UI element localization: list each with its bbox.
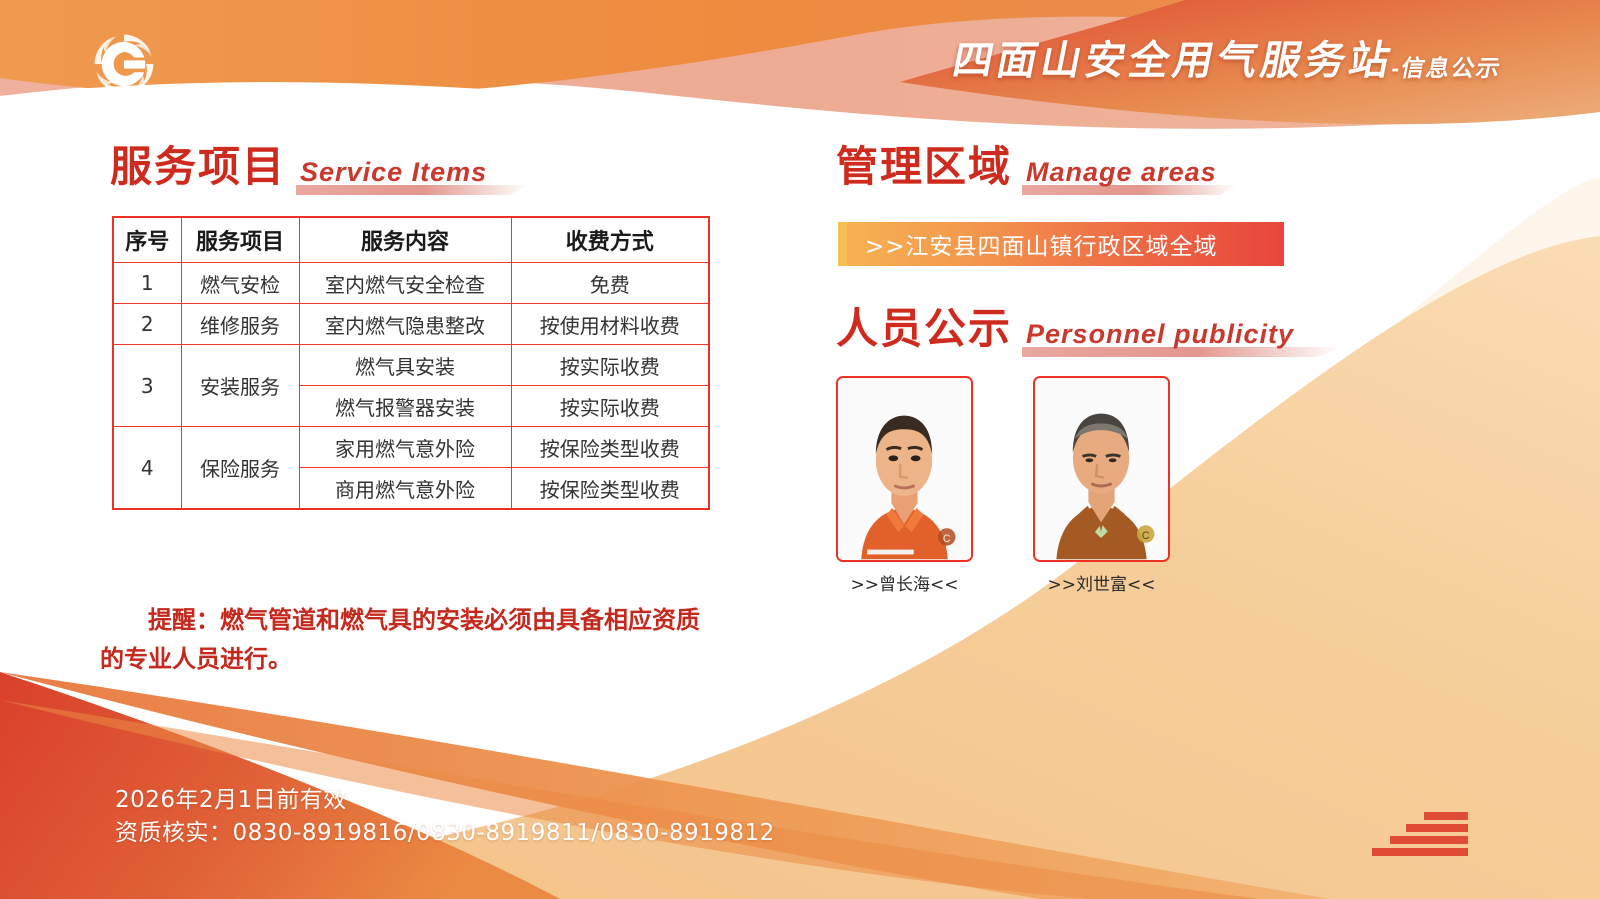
footer-info: 2026年2月1日前有效 资质核实：0830-8919816/0830-8919…	[115, 784, 775, 849]
badge-accent-bar	[838, 222, 847, 266]
cell-fee: 按保险类型收费	[511, 468, 709, 510]
personnel-name: >>刘世富<<	[1048, 570, 1156, 595]
table-row: 3 安装服务 燃气具安装 按实际收费	[113, 345, 709, 386]
svg-text:C: C	[943, 533, 951, 545]
avatar: C	[836, 376, 973, 562]
section-title-en: Manage areas	[1026, 159, 1217, 186]
cell-no: 4	[113, 427, 181, 510]
personnel-card: C >>曾长海<<	[836, 376, 973, 595]
cell-content: 室内燃气隐患整改	[299, 304, 511, 345]
person-photo-male-orange-uniform-icon: C	[838, 378, 971, 560]
stair-decoration	[1372, 812, 1468, 860]
manage-area-badge: >>江安县四面山镇行政区域全域	[838, 222, 1284, 266]
cell-content: 燃气具安装	[299, 345, 511, 386]
cell-no: 2	[113, 304, 181, 345]
section-title-en-wrap: Service Items	[300, 159, 487, 188]
avatar: C	[1033, 376, 1170, 562]
header-title: 四面山安全用气服务站 -信息公示	[949, 28, 1510, 86]
footer-verify-line: 资质核实：0830-8919816/0830-8919811/0830-8919…	[115, 817, 775, 850]
section-title-en-wrap: Personnel publicity	[1026, 321, 1294, 350]
cell-no: 3	[113, 345, 181, 427]
personnel-name: >>曾长海<<	[851, 570, 959, 595]
service-items-table: 序号 服务项目 服务内容 收费方式 1 燃气安检 室内燃气安全检查 免费 2 维…	[112, 216, 710, 510]
section-title-en: Service Items	[300, 159, 487, 186]
poster-canvas: 四面山安全用气服务站 -信息公示 服务项目 Service Items 序号 服…	[0, 0, 1600, 899]
stair-bar	[1372, 848, 1468, 856]
section-title-en: Personnel publicity	[1026, 321, 1294, 348]
section-title-manage-areas: 管理区域 Manage areas	[836, 146, 1217, 188]
th-content: 服务内容	[299, 217, 511, 263]
reminder-note: 提醒：燃气管道和燃气具的安装必须由具备相应资质的专业人员进行。	[100, 601, 720, 679]
cell-fee: 按保险类型收费	[511, 427, 709, 468]
cell-content: 商用燃气意外险	[299, 468, 511, 510]
cell-no: 1	[113, 263, 181, 304]
cell-fee: 按使用材料收费	[511, 304, 709, 345]
section-title-en-wrap: Manage areas	[1026, 159, 1217, 188]
header-title-sub: -信息公示	[1389, 49, 1506, 86]
swirl-c-logo-icon	[76, 18, 172, 110]
section-title-personnel-publicity: 人员公示 Personnel publicity	[836, 308, 1294, 350]
cell-item: 燃气安检	[181, 263, 299, 304]
cell-content: 燃气报警器安装	[299, 386, 511, 427]
cell-fee: 按实际收费	[511, 345, 709, 386]
personnel-list: C >>曾长海<<	[836, 376, 1170, 595]
service-table-wrapper: 序号 服务项目 服务内容 收费方式 1 燃气安检 室内燃气安全检查 免费 2 维…	[112, 216, 710, 510]
header-title-main: 四面山安全用气服务站	[949, 28, 1400, 86]
table-row: 1 燃气安检 室内燃气安全检查 免费	[113, 263, 709, 304]
section-title-cn: 服务项目	[110, 146, 286, 188]
cell-item: 维修服务	[181, 304, 299, 345]
stair-bar	[1406, 824, 1468, 832]
table-row: 4 保险服务 家用燃气意外险 按保险类型收费	[113, 427, 709, 468]
cell-item: 安装服务	[181, 345, 299, 427]
section-title-cn: 人员公示	[836, 308, 1012, 350]
stair-bar	[1390, 836, 1468, 844]
manage-area-text: >>江安县四面山镇行政区域全域	[847, 227, 1218, 261]
cell-item: 保险服务	[181, 427, 299, 510]
table-row: 2 维修服务 室内燃气隐患整改 按使用材料收费	[113, 304, 709, 345]
th-item: 服务项目	[181, 217, 299, 263]
section-title-service-items: 服务项目 Service Items	[110, 146, 487, 188]
section-title-cn: 管理区域	[836, 146, 1012, 188]
personnel-card: C >>刘世富<<	[1033, 376, 1170, 595]
cell-content: 室内燃气安全检查	[299, 263, 511, 304]
cell-fee: 免费	[511, 263, 709, 304]
th-fee: 收费方式	[511, 217, 709, 263]
cell-content: 家用燃气意外险	[299, 427, 511, 468]
footer-valid-until: 2026年2月1日前有效	[115, 784, 775, 817]
table-header-row: 序号 服务项目 服务内容 收费方式	[113, 217, 709, 263]
th-no: 序号	[113, 217, 181, 263]
stair-bar	[1424, 812, 1468, 820]
cell-fee: 按实际收费	[511, 386, 709, 427]
svg-text:C: C	[1142, 530, 1150, 542]
person-photo-male-brown-uniform-icon: C	[1035, 378, 1168, 560]
